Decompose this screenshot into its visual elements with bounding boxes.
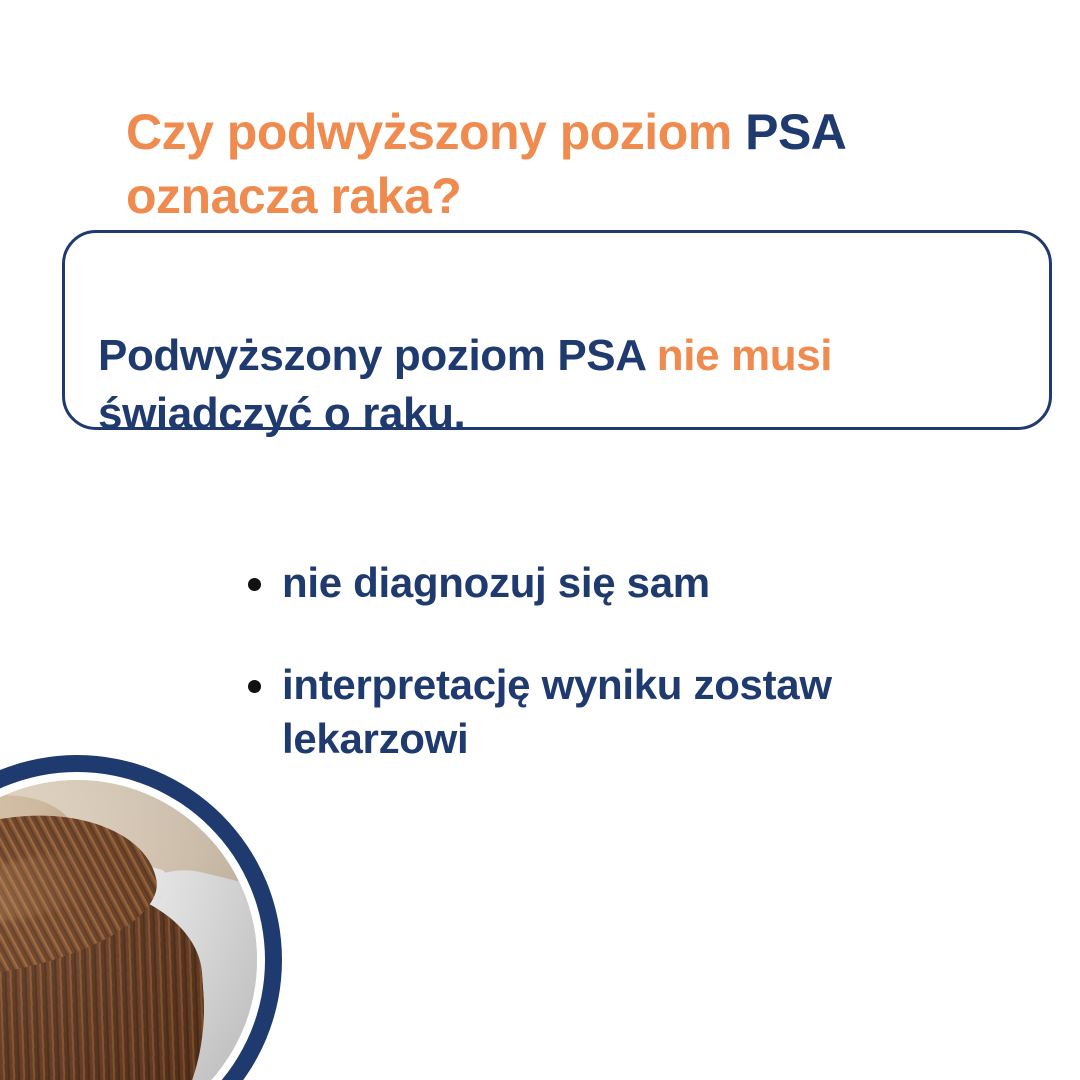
callout-part-2-highlight: nie musi bbox=[657, 331, 832, 380]
callout-part-1: Podwyższony poziom PSA bbox=[98, 331, 657, 380]
page-title-part-1: Czy podwyższony poziom bbox=[126, 104, 745, 160]
bullet-dot-icon bbox=[248, 578, 261, 591]
callout-part-3: świadczyć o raku. bbox=[98, 389, 465, 438]
photo-circle-frame bbox=[0, 755, 282, 1080]
page-title-part-3: oznacza raka? bbox=[126, 168, 461, 224]
page-title: Czy podwyższony poziom PSA oznacza raka? bbox=[126, 100, 1006, 228]
callout-box: Podwyższony poziom PSA nie musi świadczy… bbox=[62, 230, 1052, 430]
person-hair-photo bbox=[0, 780, 257, 1080]
list-item: interpretację wyniku zostaw lekarzowi bbox=[240, 658, 920, 766]
page-title-part-2-psa: PSA bbox=[745, 104, 844, 160]
list-item: nie diagnozuj się sam bbox=[240, 556, 920, 610]
list-item-label: nie diagnozuj się sam bbox=[282, 559, 710, 606]
bullet-dot-icon bbox=[248, 680, 261, 693]
list-item-label: interpretację wyniku zostaw lekarzowi bbox=[282, 661, 832, 762]
callout-text: Podwyższony poziom PSA nie musi świadczy… bbox=[98, 327, 1038, 443]
advice-bullet-list: nie diagnozuj się sam interpretację wyni… bbox=[240, 556, 920, 765]
photo-shading-overlay bbox=[0, 780, 257, 1080]
infographic-slide: Czy podwyższony poziom PSA oznacza raka?… bbox=[0, 0, 1080, 1080]
